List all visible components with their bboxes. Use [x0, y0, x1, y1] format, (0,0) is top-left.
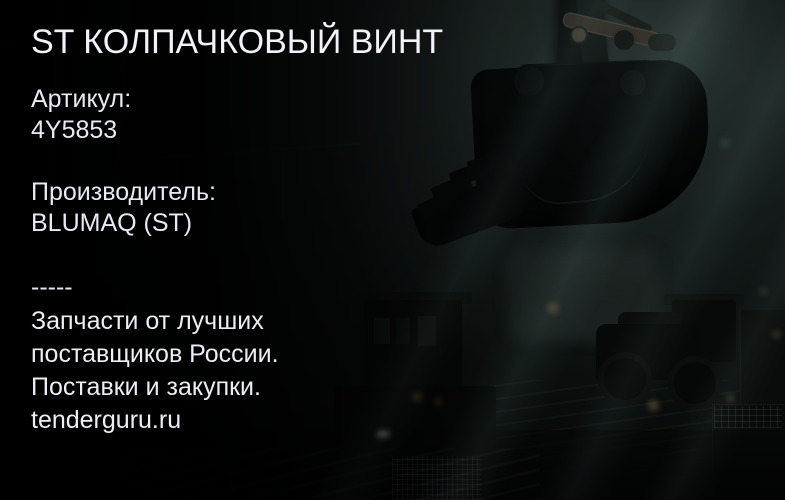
article-value: 4Y5853 [31, 115, 131, 146]
manufacturer-label: Производитель: [31, 177, 216, 208]
tractor-hood-icon [618, 312, 682, 330]
excavator-bucket-ear-icon [620, 70, 646, 96]
blurred-machine-icon [560, 286, 640, 342]
tractor-cab-icon [672, 300, 736, 362]
light-bokeh-icon [726, 394, 735, 403]
article-label: Артикул: [31, 84, 131, 115]
banner-content: ST КОЛПАЧКОВЫЙ ВИНТ Артикул: 4Y5853 Прои… [31, 0, 551, 500]
manufacturer-field: Производитель: BLUMAQ (ST) [31, 177, 216, 239]
promo-block: Запчасти от лучших поставщиков России. П… [31, 305, 279, 437]
tractor-body-icon [596, 324, 700, 380]
tractor-cab-roof-icon [664, 294, 744, 305]
article-field: Артикул: 4Y5853 [31, 84, 131, 146]
tractor-wheel-icon [598, 352, 652, 406]
crate-mesh-icon [714, 406, 782, 428]
product-banner: ST КОЛПАЧКОВЫЙ ВИНТ Артикул: 4Y5853 Прои… [0, 0, 785, 500]
promo-line-1: Запчасти от лучших [31, 305, 279, 338]
excavator-link-icon [593, 0, 653, 34]
manufacturer-value: BLUMAQ (ST) [31, 208, 216, 239]
promo-line-3: Поставки и закупки. [31, 371, 279, 404]
excavator-pin-icon [648, 34, 676, 51]
light-bokeh-icon [760, 288, 767, 295]
promo-line-2: поставщиков России. [31, 338, 279, 371]
machine-column-icon [740, 310, 785, 406]
excavator-pin-icon [570, 26, 588, 44]
promo-website: tenderguru.ru [31, 404, 279, 437]
excavator-boom-icon [554, 0, 604, 121]
excavator-stick-icon [574, 0, 612, 96]
excavator-link-icon [562, 11, 661, 48]
light-bokeh-icon [720, 138, 730, 148]
excavator-pin-icon [646, 80, 682, 100]
light-bokeh-icon [648, 400, 659, 411]
excavator-pin-icon [612, 28, 636, 52]
light-bokeh-icon [772, 330, 781, 339]
crate-icon [712, 404, 785, 500]
divider-dashes: ----- [31, 272, 73, 303]
product-title: ST КОЛПАЧКОВЫЙ ВИНТ [31, 22, 443, 62]
tractor-wheel-icon [668, 356, 722, 410]
